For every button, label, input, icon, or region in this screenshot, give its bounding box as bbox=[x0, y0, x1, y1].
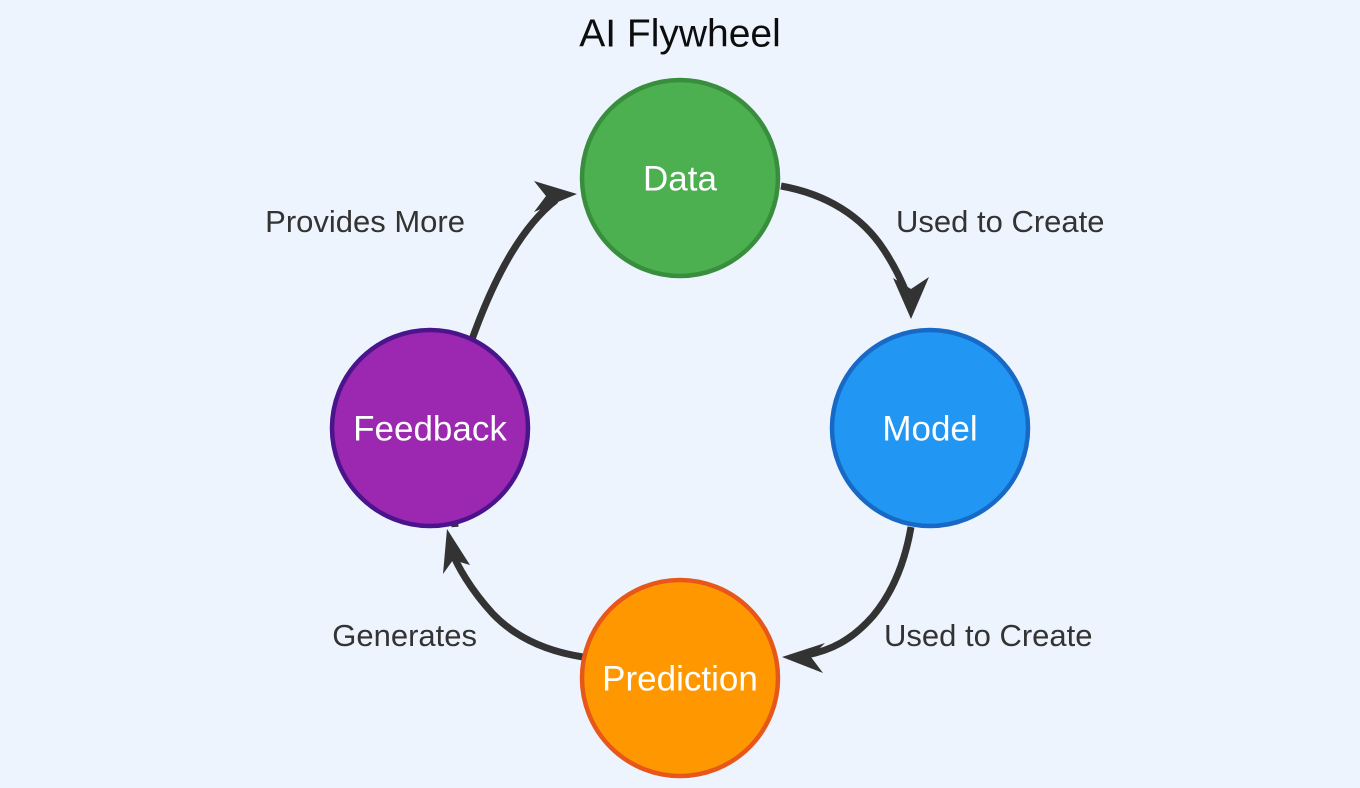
node-feedback-label: Feedback bbox=[353, 410, 507, 449]
node-prediction[interactable]: Prediction bbox=[582, 580, 778, 776]
edge-model-to-prediction-arrowhead bbox=[782, 643, 825, 673]
node-data[interactable]: Data bbox=[582, 80, 778, 276]
node-model[interactable]: Model bbox=[832, 330, 1028, 526]
node-prediction-label: Prediction bbox=[602, 660, 758, 699]
node-model-label: Model bbox=[882, 410, 977, 449]
edge-data-to-model: Used to Create bbox=[781, 186, 1105, 319]
edge-prediction-to-feedback: Generates bbox=[332, 529, 583, 657]
ai-flywheel-diagram: AI Flywheel Provides More Used to Create… bbox=[0, 0, 1360, 788]
edge-label-generates: Generates bbox=[332, 618, 477, 653]
node-data-label: Data bbox=[643, 160, 717, 199]
edge-label-used-to-create-top: Used to Create bbox=[896, 204, 1105, 239]
edge-model-to-prediction: Used to Create bbox=[782, 527, 1093, 673]
edge-data-to-model-arrowhead bbox=[893, 277, 929, 319]
node-feedback[interactable]: Feedback bbox=[332, 330, 528, 526]
edge-label-provides-more: Provides More bbox=[265, 204, 465, 239]
edge-data-to-model-path bbox=[781, 186, 908, 297]
edge-feedback-to-data-arrowhead bbox=[534, 181, 577, 212]
diagram-canvas: AI Flywheel Provides More Used to Create… bbox=[0, 0, 1360, 788]
edge-label-used-to-create-bottom: Used to Create bbox=[884, 618, 1093, 653]
page-title: AI Flywheel bbox=[579, 12, 781, 55]
